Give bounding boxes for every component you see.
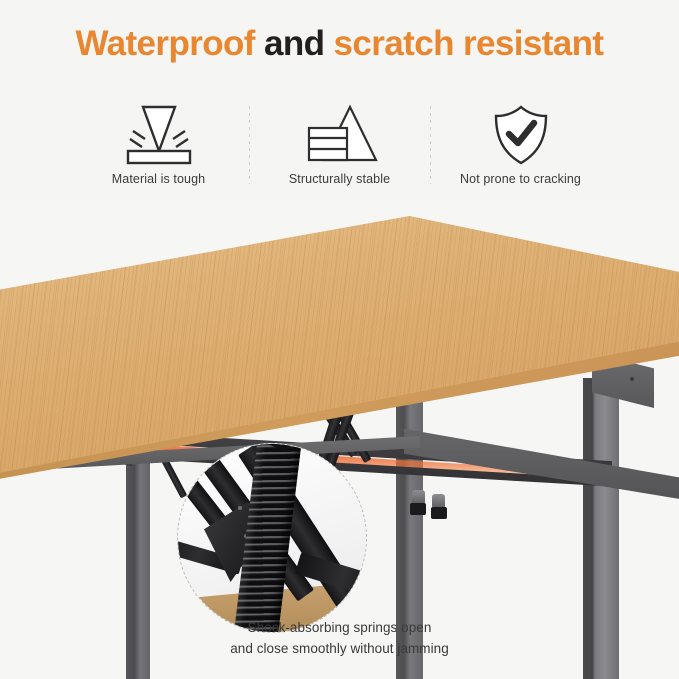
page-headline: Waterproof and scratch resistant	[0, 20, 679, 68]
feature-material-is-tough: Material is tough	[69, 104, 249, 186]
feature-label: Structurally stable	[289, 172, 390, 186]
feature-divider-1	[249, 106, 250, 184]
triangle-stack-icon	[297, 104, 383, 166]
feature-structurally-stable: Structurally stable	[250, 104, 430, 186]
feature-label: Material is tough	[112, 172, 205, 186]
caption-line-1: Shock-absorbing springs open	[0, 617, 679, 638]
callout-caption: Shock-absorbing springs open and close s…	[0, 617, 679, 659]
chisel-impact-icon	[116, 104, 202, 166]
headline-part-1: Waterproof	[76, 24, 264, 63]
headline-part-3: scratch resistant	[334, 24, 604, 63]
marketing-image: Waterproof and scratch resistant Materia…	[0, 0, 679, 679]
headline-part-2: and	[264, 24, 334, 63]
spring-mechanism-zoom	[177, 443, 367, 633]
shield-check-icon	[478, 104, 564, 166]
folding-arm-foot	[431, 507, 447, 519]
feature-not-prone-to-cracking: Not prone to cracking	[431, 104, 611, 186]
feature-label: Not prone to cracking	[460, 172, 581, 186]
product-photo	[0, 200, 679, 679]
feature-row: Material is tough Structurally stable	[0, 104, 679, 200]
frame-screw	[630, 377, 634, 381]
caption-line-2: and close smoothly without jamming	[0, 638, 679, 659]
feature-divider-2	[430, 106, 431, 184]
callout-screw	[238, 506, 242, 510]
folding-arm-foot	[410, 503, 426, 515]
